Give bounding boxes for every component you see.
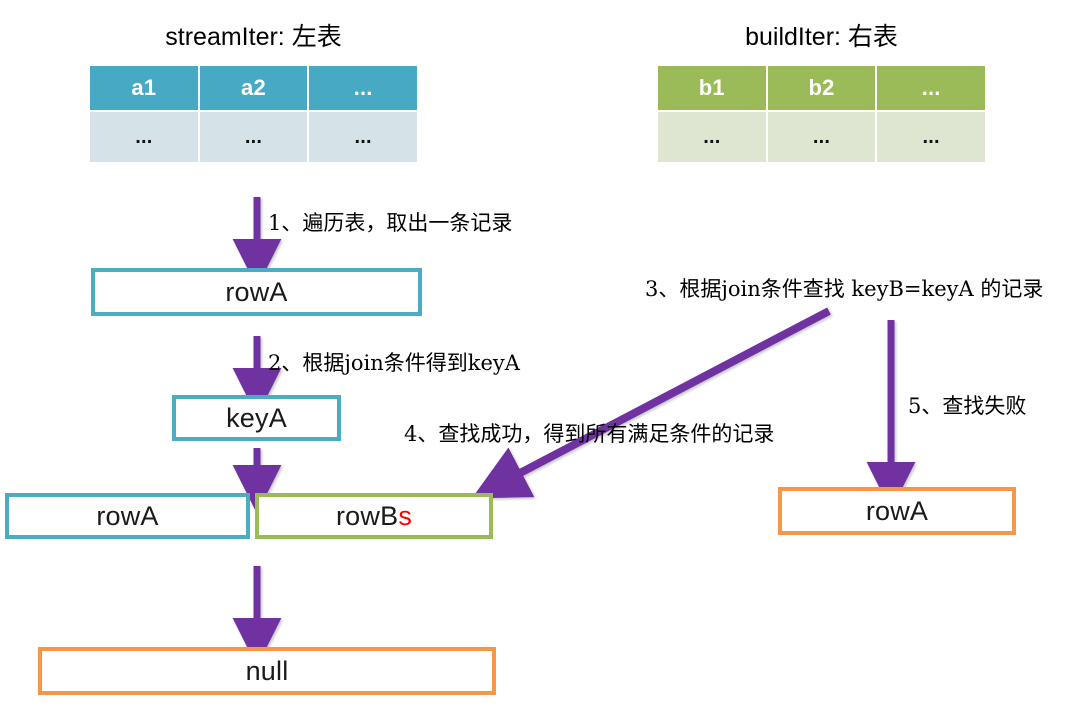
row-a-fail-label: rowA: [866, 496, 928, 527]
row-a-top-label: rowA: [225, 277, 287, 308]
diagram-canvas: streamIter: 左表 buildIter: 右表 a1 a2 ... .…: [0, 0, 1084, 706]
step3-label: 3、根据join条件查找 keyB=keyA 的记录: [645, 276, 1043, 302]
stream-data-cell: ...: [200, 112, 308, 162]
stream-header-cell: a1: [90, 66, 198, 110]
key-a-box: keyA: [172, 395, 341, 441]
stream-data-cell: ...: [90, 112, 198, 162]
row-a-fail-box: rowA: [778, 487, 1016, 535]
build-table: b1 b2 ... ... ... ...: [658, 66, 985, 162]
stream-header-cell: a2: [200, 66, 308, 110]
build-header-cell: b1: [658, 66, 766, 110]
key-a-label: keyA: [226, 403, 287, 434]
build-header-cell: b2: [768, 66, 876, 110]
stream-header-cell: ...: [309, 66, 417, 110]
stream-data-cell: ...: [309, 112, 417, 162]
null-box: null: [38, 647, 496, 695]
build-data-cell: ...: [658, 112, 766, 162]
row-bs-suffix: s: [398, 501, 412, 531]
row-a-top-box: rowA: [91, 268, 422, 316]
build-header-cell: ...: [877, 66, 985, 110]
step1-label: 1、遍历表，取出一条记录: [268, 210, 512, 236]
row-bs-label: rowBs: [336, 501, 412, 532]
step5-label: 5、查找失败: [908, 393, 1026, 419]
build-data-cell: ...: [877, 112, 985, 162]
stream-table: a1 a2 ... ... ... ...: [90, 66, 417, 162]
stream-table-title: streamIter: 左表: [90, 22, 417, 52]
step2-label: 2、根据join条件得到keyA: [268, 350, 520, 376]
row-bs-box: rowBs: [255, 493, 493, 539]
build-data-cell: ...: [768, 112, 876, 162]
row-a-result-box: rowA: [5, 493, 250, 539]
step4-label: 4、查找成功，得到所有满足条件的记录: [404, 421, 774, 447]
build-table-title: buildIter: 右表: [658, 22, 985, 52]
null-label: null: [246, 656, 289, 687]
row-bs-prefix: rowB: [336, 501, 398, 531]
row-a-result-label: rowA: [96, 501, 158, 532]
arrow-step4: [503, 311, 829, 482]
